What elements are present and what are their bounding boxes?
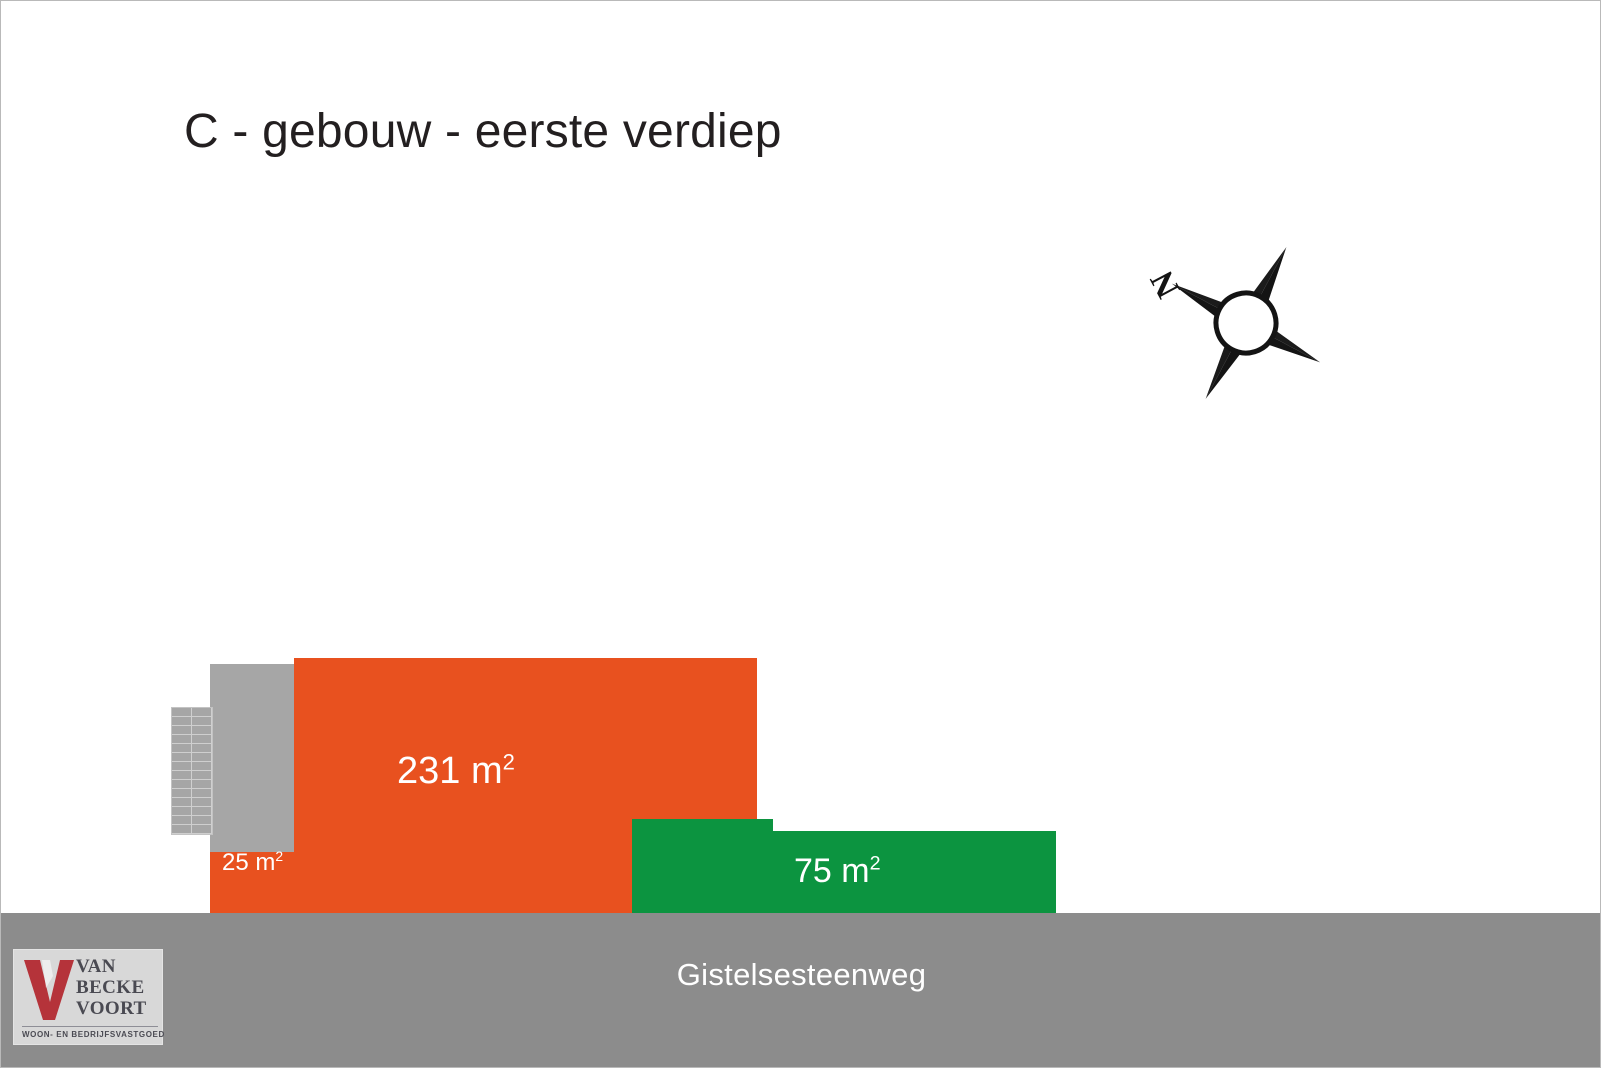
stair-step [192,798,212,807]
stair-step [192,789,212,798]
stair-step [172,744,192,753]
stair-step [172,816,192,825]
logo-word-line-1: VAN [76,956,162,977]
stair-core-block [210,664,294,852]
stair-step [172,771,192,780]
street-name-label: Gistelsesteenweg [1,957,1601,993]
staircase-steps [171,707,213,835]
stair-step [192,825,212,834]
stair-step [172,726,192,735]
area-label-231-text: 231 m [397,750,503,792]
stair-step [192,771,212,780]
stair-step [192,744,212,753]
stair-step [192,753,212,762]
area-label-75-superscript: 2 [870,853,881,875]
stair-step [192,816,212,825]
area-label-25: 25 m2 [222,851,283,875]
stair-step [192,762,212,771]
stair-step [192,726,212,735]
street-band: Gistelsesteenweg [1,913,1601,1068]
area-label-75-text: 75 m [794,852,870,890]
company-logo[interactable]: VAN BECKE VOORT WOON- EN BEDRIJFSVASTGOE… [13,949,163,1045]
stair-step [192,717,212,726]
stair-step [172,753,192,762]
area-label-25-superscript: 2 [275,848,283,864]
stair-step [192,780,212,789]
area-label-231-superscript: 2 [503,749,515,774]
unit-area-green-left[interactable] [632,819,773,913]
stair-step [172,807,192,816]
stair-step [172,735,192,744]
stair-step [172,717,192,726]
stair-step [172,708,192,717]
logo-word-line-2: BECKE [76,977,162,998]
floor-plan-page: C - gebouw - eerste verdiep N [0,0,1601,1068]
unit-area-orange-lower[interactable] [294,852,632,913]
logo-tagline: WOON- EN BEDRIJFSVASTGOED [22,1026,158,1039]
page-title: C - gebouw - eerste verdiep [184,104,782,159]
van-beckevoort-v-mark [22,958,76,1022]
logo-word-line-3: VOORT [76,998,162,1019]
compass-rose: N [1141,239,1351,404]
stair-step [172,789,192,798]
logo-wordmark: VAN BECKE VOORT [76,956,162,1019]
area-label-75: 75 m2 [794,854,881,888]
stair-step [172,780,192,789]
stair-step [172,825,192,834]
stair-step [192,735,212,744]
stair-step [192,708,212,717]
area-label-231: 231 m2 [397,752,515,790]
stair-step [192,807,212,816]
stair-step [172,762,192,771]
area-label-25-text: 25 m [222,849,275,876]
stair-step [172,798,192,807]
